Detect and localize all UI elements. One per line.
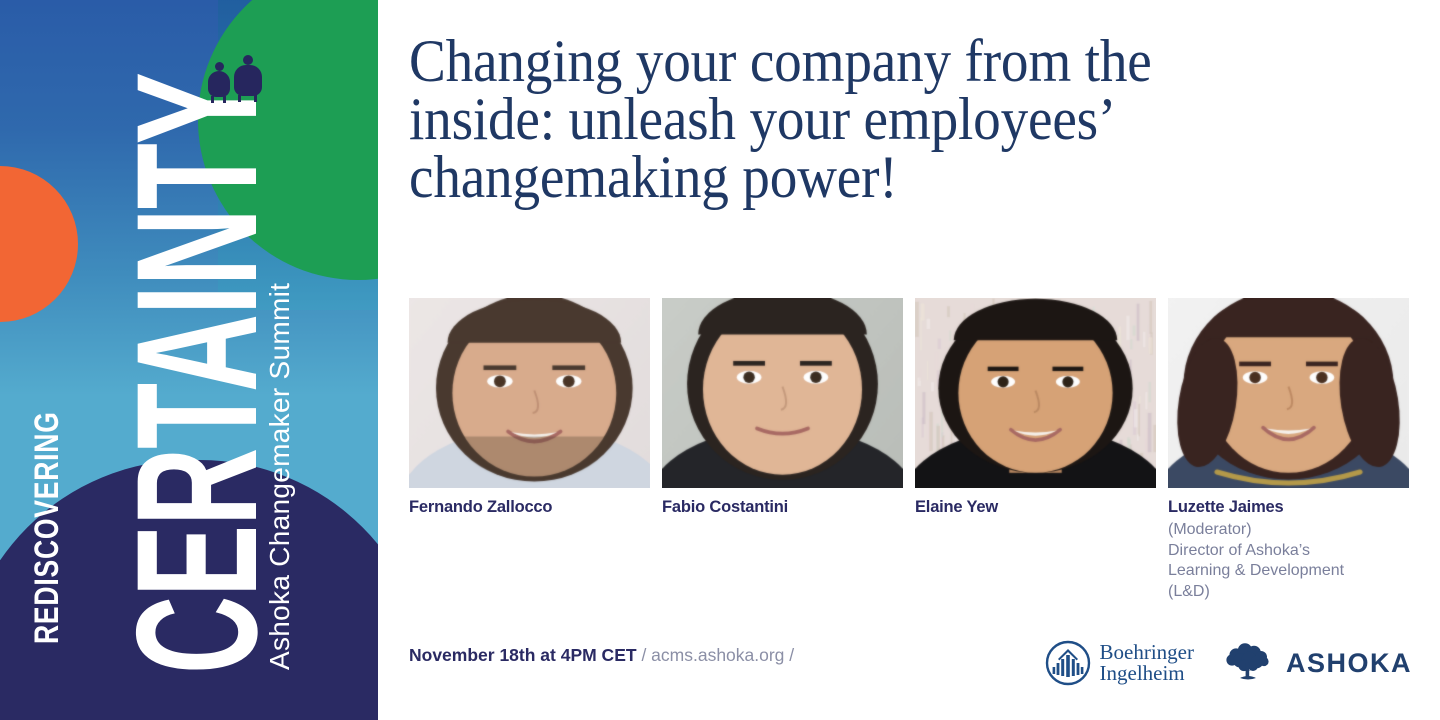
summit-label: Ashoka Changemaker Summit (264, 200, 304, 670)
speaker-photo (1168, 298, 1409, 488)
boehringer-line-2: Ingelheim (1100, 663, 1194, 684)
speaker-name: Luzette Jaimes (1168, 498, 1284, 517)
certainty-wordmark: CERTAINTY (118, 44, 278, 674)
content-area: Changing your company from the inside: u… (378, 0, 1440, 720)
event-url[interactable]: / acms.ashoka.org / (641, 645, 794, 665)
speaker-card: Luzette Jaimes (Moderator) Director of A… (1168, 298, 1409, 488)
certainty-wordmark-text: CERTAINTY (118, 277, 276, 674)
ashoka-logo: ASHOKA (1220, 641, 1412, 685)
boehringer-ingelheim-logo: Boehringer Ingelheim (1045, 640, 1194, 686)
boehringer-mark-icon (1045, 640, 1091, 686)
webinar-promo-poster: CERTAINTY REDISCOVERING Ashoka Changemak… (0, 0, 1440, 720)
page-title-line-2: inside: unleash your employees’ (409, 90, 1255, 148)
ashoka-wordmark: ASHOKA (1286, 648, 1412, 679)
speaker-role: (Moderator) Director of Ashoka’s Learnin… (1168, 520, 1408, 602)
page-title-line-3: changemaking power! (409, 148, 1255, 206)
speaker-photo (409, 298, 650, 488)
speaker-list: Fernando Zallocco Fabio Costantini Elain… (409, 298, 1411, 498)
speaker-card: Elaine Yew (915, 298, 1156, 488)
person-figure-icon (232, 55, 266, 105)
page-title: Changing your company from the inside: u… (409, 32, 1329, 206)
orange-circle-shape (0, 166, 78, 322)
boehringer-wordmark: Boehringer Ingelheim (1100, 642, 1194, 684)
ashoka-tree-icon (1220, 641, 1276, 685)
event-datetime: November 18th at 4PM CET (409, 645, 637, 665)
speaker-name: Elaine Yew (915, 498, 998, 517)
speaker-name: Fabio Costantini (662, 498, 788, 517)
page-title-line-1: Changing your company from the (409, 32, 1255, 90)
artwork-panel: CERTAINTY REDISCOVERING Ashoka Changemak… (0, 0, 378, 720)
speaker-photo (915, 298, 1156, 488)
speaker-card: Fabio Costantini (662, 298, 903, 488)
speaker-name: Fernando Zallocco (409, 498, 552, 517)
boehringer-line-1: Boehringer (1100, 642, 1194, 663)
rediscovering-kicker: REDISCOVERING (28, 334, 74, 644)
partner-logos: Boehringer Ingelheim (1045, 636, 1413, 690)
speaker-photo (662, 298, 903, 488)
speaker-card: Fernando Zallocco (409, 298, 650, 488)
event-datetime-and-url: November 18th at 4PM CET / acms.ashoka.o… (409, 645, 794, 666)
